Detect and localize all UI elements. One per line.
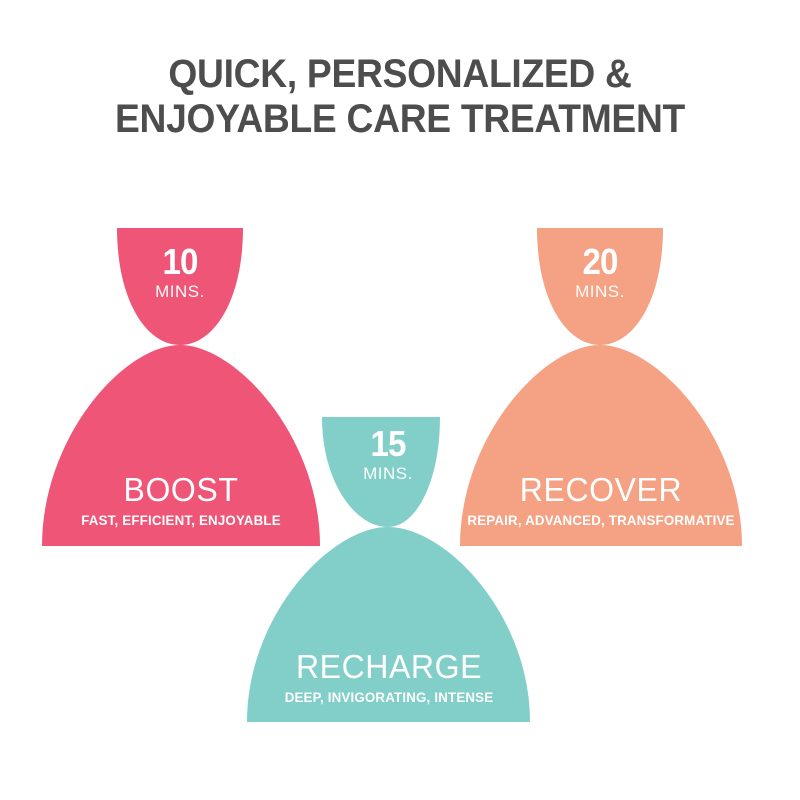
recharge-label: RECHARGE DEEP, INVIGORATING, INTENSE — [248, 650, 530, 704]
recover-duration: 20 MINS. — [520, 244, 680, 300]
recharge-duration-unit: MINS. — [308, 465, 468, 482]
boost-duration-number: 10 — [106, 244, 253, 280]
recharge-tagline: DEEP, INVIGORATING, INTENSE — [255, 690, 523, 704]
title-line-2: ENJOYABLE CARE TREATMENT — [28, 97, 772, 142]
recover-duration-unit: MINS. — [520, 283, 680, 300]
page-title: QUICK, PERSONALIZED & ENJOYABLE CARE TRE… — [0, 52, 800, 142]
boost-label: BOOST FAST, EFFICIENT, ENJOYABLE — [41, 473, 321, 527]
boost-duration: 10 MINS. — [100, 244, 260, 300]
recharge-name: RECHARGE — [252, 650, 526, 683]
infographic-canvas: QUICK, PERSONALIZED & ENJOYABLE CARE TRE… — [0, 0, 800, 800]
recharge-duration: 15 MINS. — [308, 426, 468, 482]
boost-tagline: FAST, EFFICIENT, ENJOYABLE — [48, 513, 314, 527]
title-line-1: QUICK, PERSONALIZED & — [28, 52, 772, 97]
recover-name: RECOVER — [464, 473, 738, 506]
boost-name: BOOST — [45, 473, 317, 506]
recover-label: RECOVER REPAIR, ADVANCED, TRANSFORMATIVE — [460, 473, 742, 527]
recharge-duration-number: 15 — [314, 426, 461, 462]
recover-tagline: REPAIR, ADVANCED, TRANSFORMATIVE — [467, 513, 735, 527]
boost-duration-unit: MINS. — [100, 283, 260, 300]
recover-duration-number: 20 — [526, 244, 673, 280]
